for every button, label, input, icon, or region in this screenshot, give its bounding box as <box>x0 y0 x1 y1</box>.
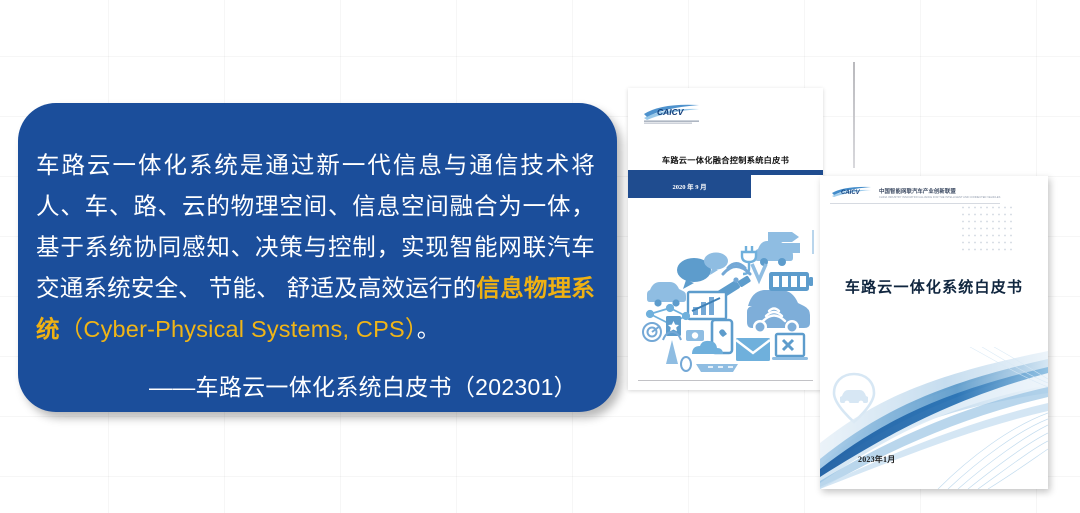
svg-text:CAICV: CAICV <box>841 190 861 196</box>
ellipse-icon <box>681 357 691 371</box>
radar-icon <box>643 323 661 341</box>
caicv-logo-icon: CAICV <box>641 102 703 125</box>
road-icon <box>696 364 738 372</box>
dot-grid-decoration <box>960 204 1014 254</box>
doc-two-title: 车路云一体化系统白皮书 <box>820 276 1048 297</box>
doc-one-date: 2020 年 9 月 <box>628 181 751 191</box>
quote-callout-card: 车路云一体化系统是通过新一代信息与通信技术将人、车、路、云的物理空间、信息空间融… <box>18 103 617 412</box>
svg-text:CAICV: CAICV <box>657 107 685 117</box>
camera-icon <box>686 330 704 341</box>
quote-source-citation: ——车路云一体化系统白皮书（202301） <box>36 368 595 402</box>
arrow-icons <box>768 230 814 254</box>
doc-two-org-name: 中国智能网联汽车产业创新联盟 <box>879 187 1000 195</box>
bar-chart-icon <box>688 292 726 319</box>
caicv-logo-icon: CAICV <box>830 185 874 200</box>
doc-one-footer-rule <box>638 380 813 381</box>
connected-vehicle-icon-collage <box>636 228 816 373</box>
doc-one-date-bar: 2020 年 9 月 <box>628 175 751 198</box>
quote-tail-punctuation: 。 <box>417 316 441 342</box>
doc-two-header: CAICV 中国智能网联汽车产业创新联盟 CHINA INDUSTRY INNO… <box>830 185 1000 200</box>
icon-collage-svg <box>636 228 816 373</box>
envelope-icon <box>736 338 770 361</box>
doc-two-date: 2023年1月 <box>858 454 895 465</box>
v-mark <box>752 264 766 280</box>
laptop-tools-icon <box>772 334 808 360</box>
caicv-logo-svg: CAICV <box>641 102 703 125</box>
doc-two-org-name-sub: CHINA INDUSTRY INNOVATION ALLIANCE FOR T… <box>879 196 1000 199</box>
battery-icon <box>769 272 813 291</box>
whitepaper-cover-2023[interactable]: CAICV 中国智能网联汽车产业创新联盟 CHINA INDUSTRY INNO… <box>820 176 1048 489</box>
vertical-divider-line <box>853 62 855 168</box>
quote-highlight-english: （Cyber-Physical Systems, CPS） <box>60 316 417 342</box>
blue-wave-graphic <box>820 347 1048 489</box>
antenna-tower-icon <box>663 332 681 364</box>
whitepaper-cover-2020[interactable]: CAICV 车路云一体化融合控制系统白皮书 2020 年 9 月 <box>628 88 823 390</box>
small-car-icon <box>647 282 686 307</box>
doc-one-title: 车路云一体化融合控制系统白皮书 <box>628 154 823 166</box>
chat-bubble-icons <box>677 253 728 290</box>
quote-body-text: 车路云一体化系统是通过新一代信息与通信技术将人、车、路、云的物理空间、信息空间融… <box>36 145 595 350</box>
